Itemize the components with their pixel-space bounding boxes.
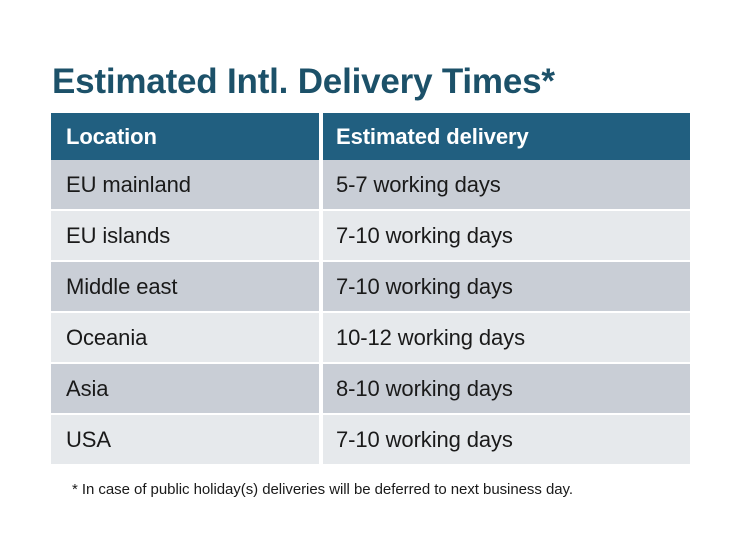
cell-delivery: 8-10 working days [323,364,690,415]
table-header-row: Location Estimated delivery [51,113,690,160]
table-body: EU mainland 5-7 working days EU islands … [51,160,690,464]
cell-location: EU islands [51,211,319,262]
footnote-text: * In case of public holiday(s) deliverie… [72,480,573,500]
table-row: EU mainland 5-7 working days [51,160,690,211]
page-title: Estimated Intl. Delivery Times* [52,61,555,103]
cell-location: EU mainland [51,160,319,211]
table-row: USA 7-10 working days [51,415,690,464]
column-header-estimated-delivery: Estimated delivery [323,113,690,160]
table-header: Location Estimated delivery [51,113,690,160]
cell-delivery: 7-10 working days [323,415,690,464]
cell-location: Asia [51,364,319,415]
table-row: EU islands 7-10 working days [51,211,690,262]
cell-location: USA [51,415,319,464]
table-row: Asia 8-10 working days [51,364,690,415]
cell-delivery: 10-12 working days [323,313,690,364]
table-row: Oceania 10-12 working days [51,313,690,364]
cell-delivery: 7-10 working days [323,211,690,262]
estimated-delivery-table: Location Estimated delivery EU mainland … [51,113,690,464]
cell-location: Middle east [51,262,319,313]
cell-location: Oceania [51,313,319,364]
column-header-location: Location [51,113,319,160]
table-row: Middle east 7-10 working days [51,262,690,313]
cell-delivery: 7-10 working days [323,262,690,313]
delivery-times-page: Estimated Intl. Delivery Times* Location… [0,0,745,536]
cell-delivery: 5-7 working days [323,160,690,211]
